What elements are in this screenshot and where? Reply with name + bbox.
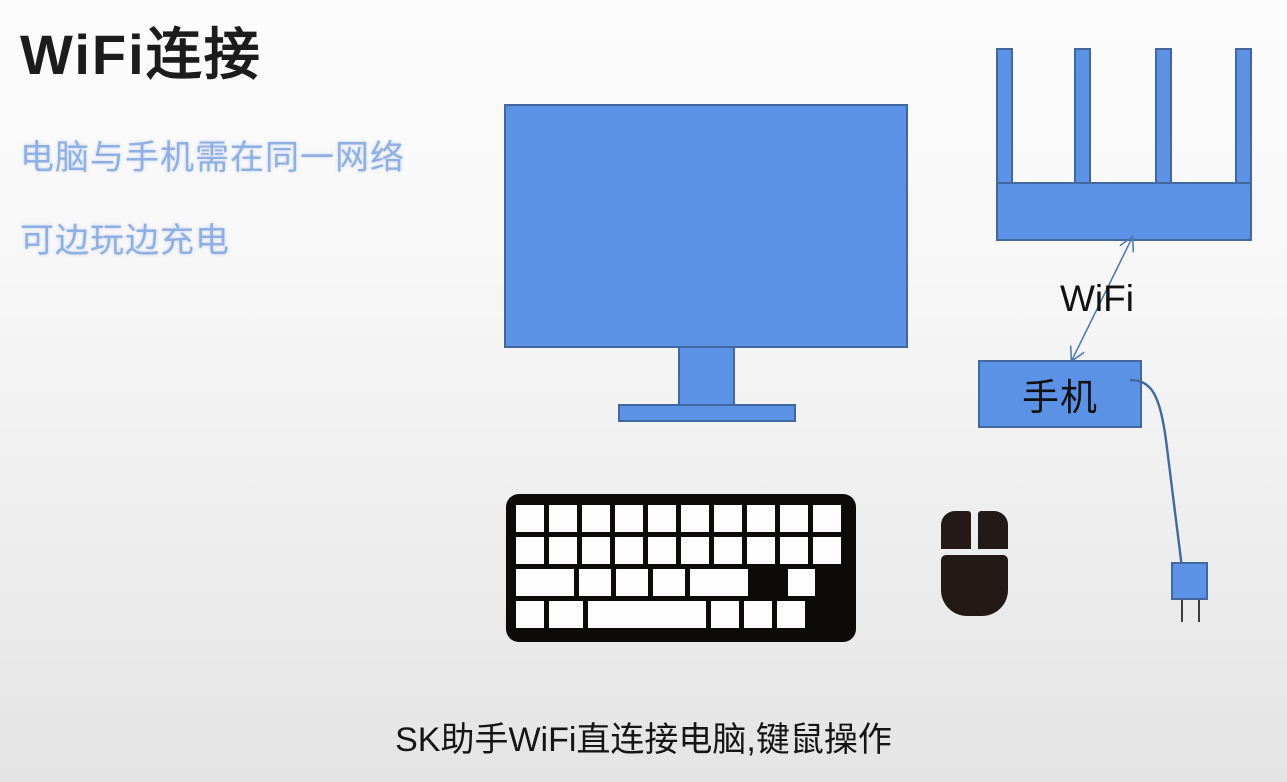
monitor-stand-base: [618, 404, 796, 422]
keyboard-key: [582, 537, 610, 564]
phone-label: 手机: [1022, 367, 1098, 421]
keyboard-key-arrow-right: [777, 601, 805, 628]
keyboard-key-capslock: [516, 569, 574, 596]
keyboard-key-alt: [549, 601, 583, 628]
keyboard-key-enter: [690, 569, 748, 596]
page-title: WiFi连接: [20, 10, 262, 91]
keyboard-key: [653, 569, 685, 596]
keyboard-key: [648, 505, 676, 532]
mouse-left-button: [941, 511, 971, 549]
router-antenna-2: [1074, 48, 1091, 185]
keyboard-key: [582, 505, 610, 532]
monitor-stand-neck: [678, 348, 735, 412]
keyboard-device: [506, 494, 856, 642]
keyboard-row-3: [516, 569, 846, 596]
slide-caption: SK助手WiFi直连接电脑,键鼠操作: [0, 712, 1287, 761]
keyboard-key: [714, 505, 742, 532]
keyboard-key: [615, 537, 643, 564]
keyboard-row-1: [516, 505, 846, 532]
keyboard-key: [516, 537, 544, 564]
keyboard-key-arrow-up: [788, 569, 814, 596]
router-antenna-3: [1155, 48, 1172, 185]
mouse-body: [941, 555, 1008, 616]
keyboard-key-ctrl: [516, 601, 544, 628]
keyboard-key: [648, 537, 676, 564]
keyboard-key-arrow-down: [744, 601, 772, 628]
keyboard-key: [747, 505, 775, 532]
keyboard-key: [747, 537, 775, 564]
keyboard-key: [549, 537, 577, 564]
charger-plug-pin-1: [1181, 600, 1183, 622]
charger-plug-body: [1171, 562, 1208, 600]
keyboard-key: [516, 505, 544, 532]
keyboard-key: [714, 537, 742, 564]
monitor-screen: [504, 104, 908, 348]
keyboard-gap: [753, 569, 783, 596]
keyboard-key: [681, 505, 709, 532]
mouse-device: [941, 511, 1008, 616]
router-antenna-1: [996, 48, 1013, 185]
keyboard-key: [549, 505, 577, 532]
keyboard-key: [780, 505, 808, 532]
keyboard-key: [616, 569, 648, 596]
keyboard-key: [615, 505, 643, 532]
charger-plug-pin-2: [1198, 600, 1200, 622]
slide-canvas: WiFi连接 电脑与手机需在同一网络 可边玩边充电 WiFi 手机: [0, 0, 1287, 782]
keyboard-row-2: [516, 537, 846, 564]
keyboard-key: [780, 537, 808, 564]
mouse-right-button: [978, 511, 1008, 549]
router-antenna-4: [1235, 48, 1252, 185]
keyboard-gap: [820, 569, 846, 596]
keyboard-key-arrow-left: [711, 601, 739, 628]
subtitle-line-2: 可边玩边充电: [20, 213, 230, 262]
charging-cable: [1130, 378, 1220, 578]
keyboard-key-space: [588, 601, 706, 628]
keyboard-key: [813, 505, 841, 532]
keyboard-key: [813, 537, 841, 564]
wifi-connection-label: WiFi: [1060, 278, 1134, 320]
keyboard-row-4: [516, 601, 846, 628]
subtitle-line-1: 电脑与手机需在同一网络: [20, 130, 405, 179]
phone-device: 手机: [978, 360, 1142, 428]
keyboard-key: [681, 537, 709, 564]
keyboard-key: [579, 569, 611, 596]
